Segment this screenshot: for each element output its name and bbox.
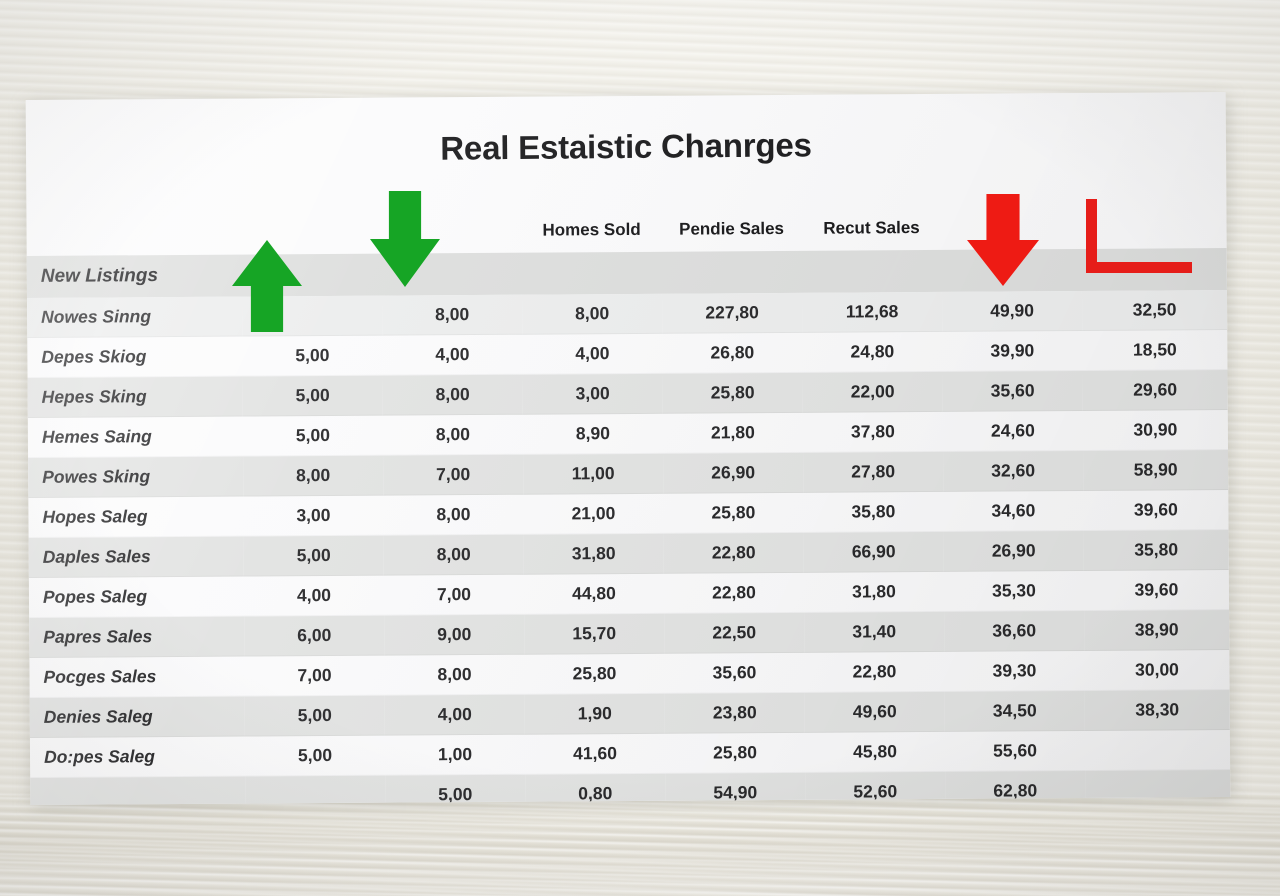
table-cell: 35,60: [664, 652, 804, 693]
table-cell: 32,60: [943, 450, 1083, 491]
table-cell: 24,60: [943, 410, 1083, 451]
page-title: Real Estaistic Chanrges: [26, 122, 1226, 171]
table-cell: 5,00: [385, 774, 525, 805]
table-cell: 8,00: [243, 455, 383, 496]
row-label: Pocges Sales: [29, 656, 244, 697]
table-cell: 26,90: [663, 452, 803, 493]
table-cell: 27,80: [803, 451, 943, 492]
table-cell: 5,00: [245, 735, 385, 776]
table-cell: 112,68: [802, 292, 942, 332]
table-cell: [1085, 730, 1230, 771]
table-cell: 41,60: [525, 733, 665, 774]
column-header-6: [941, 211, 1081, 250]
row-label: Hopes Saleg: [28, 496, 243, 537]
row-label: [30, 776, 245, 805]
table-cell: 39,60: [1083, 490, 1228, 531]
table-cell: 8,90: [523, 413, 663, 454]
table-cell: 8,00: [522, 294, 662, 334]
table-cell: 35,80: [1084, 530, 1229, 571]
column-header-7: [1081, 210, 1226, 249]
row-label: Nowes Sinng: [27, 297, 242, 338]
table-cell: 22,50: [664, 612, 804, 653]
table-body: New Listings Nowes Sinng8,008,00227,8011…: [27, 248, 1231, 805]
table-cell: 5,00: [243, 375, 383, 416]
table-cell: 35,60: [942, 370, 1082, 411]
table-cell: 31,80: [804, 571, 944, 612]
table-cell: 0,80: [525, 773, 665, 805]
table-cell: 45,80: [805, 731, 945, 772]
table-cell: 1,90: [525, 693, 665, 734]
table-cell: 31,80: [524, 533, 664, 574]
table-cell: 25,80: [524, 653, 664, 694]
table-cell: 5,00: [245, 695, 385, 736]
column-header-2: [381, 215, 521, 254]
table-cell: 5,00: [243, 415, 383, 456]
column-header-homes-sold: Homes Sold: [521, 214, 661, 253]
table-cell: 21,80: [663, 412, 803, 453]
table-cell: 25,80: [663, 492, 803, 533]
table-cell: 8,00: [382, 295, 522, 335]
table-cell: 44,80: [524, 573, 664, 614]
table-cell: 22,80: [664, 572, 804, 613]
row-label: Powes Sking: [28, 456, 243, 497]
table-cell: 24,80: [802, 331, 942, 372]
table-cell: 49,90: [942, 291, 1082, 331]
row-label: Popes Saleg: [29, 576, 244, 617]
table-cell: 26,80: [662, 332, 802, 373]
table-cell: 34,60: [943, 490, 1083, 531]
table-cell: 35,30: [944, 570, 1084, 611]
table-cell: 6,00: [244, 615, 384, 656]
table-cell: 26,90: [944, 530, 1084, 571]
table-cell: 22,00: [802, 371, 942, 412]
table-cell: 5,00: [244, 535, 384, 576]
table-cell: 7,00: [384, 574, 524, 615]
table-cell: 21,00: [523, 493, 663, 534]
table-cell: 4,00: [244, 575, 384, 616]
table-cell: 66,90: [804, 531, 944, 572]
table-cell: 30,00: [1084, 650, 1229, 691]
table-cell: 29,60: [1082, 370, 1227, 411]
table-cell: 8,00: [384, 534, 524, 575]
table-cell: 1,00: [385, 734, 525, 775]
table-cell: 9,00: [384, 614, 524, 655]
table-cell: 15,70: [524, 613, 664, 654]
table-cell: 8,00: [384, 654, 524, 695]
column-header-label: [26, 217, 241, 256]
row-label: Denies Saleg: [30, 696, 245, 737]
table-cell: 18,50: [1082, 330, 1227, 371]
table-cell: 32,50: [1082, 290, 1227, 330]
row-label: Daples Sales: [29, 536, 244, 577]
table-cell: 36,60: [944, 610, 1084, 651]
column-header-recut-sales: Recut Sales: [801, 212, 941, 251]
table-cell: 25,80: [665, 732, 805, 773]
table-cell: [242, 296, 382, 336]
table-cell: 37,80: [803, 411, 943, 452]
table-cell: 39,60: [1084, 570, 1229, 611]
report-table-container: Homes Sold Pendie Sales Recut Sales New …: [26, 210, 1230, 805]
real-estate-table: Homes Sold Pendie Sales Recut Sales New …: [26, 210, 1230, 805]
row-label: Depes Skiog: [27, 336, 242, 377]
table-cell: 23,80: [665, 692, 805, 733]
table-cell: 3,00: [243, 495, 383, 536]
table-cell: 4,00: [385, 694, 525, 735]
row-label: Hepes Sking: [28, 376, 243, 417]
table-cell: 8,00: [383, 374, 523, 415]
column-header-1: [241, 216, 381, 255]
table-cell: 35,80: [803, 491, 943, 532]
column-header-pendie-sales: Pendie Sales: [661, 213, 801, 252]
table-cell: 39,90: [942, 330, 1082, 371]
table-cell: 31,40: [804, 611, 944, 652]
table-cell: 25,80: [663, 372, 803, 413]
table-cell: 34,50: [945, 690, 1085, 731]
table-cell: 4,00: [522, 333, 662, 374]
row-label: Papres Sales: [29, 616, 244, 657]
printed-report-sheet: Real Estaistic Chanrges Homes Sold Pendi…: [26, 92, 1231, 805]
table-cell: 38,90: [1084, 610, 1229, 651]
table-cell: 38,30: [1085, 690, 1230, 731]
table-cell: 7,00: [383, 454, 523, 495]
table-cell: 4,00: [382, 334, 522, 375]
table-cell: 30,90: [1083, 410, 1228, 451]
table-cell: 22,80: [804, 651, 944, 692]
desk-surface-lower: [0, 795, 1280, 896]
table-cell: 11,00: [523, 453, 663, 494]
table-cell: 49,60: [805, 691, 945, 732]
table-cell: 3,00: [523, 373, 663, 414]
table-cell: [245, 775, 385, 805]
table-cell: 227,80: [662, 293, 802, 333]
row-label: Do:pes Saleg: [30, 736, 245, 777]
table-cell: 58,90: [1083, 450, 1228, 491]
row-label: Hemes Saing: [28, 416, 243, 457]
table-cell: 8,00: [383, 414, 523, 455]
table-cell: 5,00: [242, 335, 382, 376]
table-cell: 55,60: [945, 730, 1085, 771]
table-cell: 8,00: [383, 494, 523, 535]
table-cell: 22,80: [664, 532, 804, 573]
table-cell: 39,30: [944, 650, 1084, 691]
table-cell: 7,00: [244, 655, 384, 696]
